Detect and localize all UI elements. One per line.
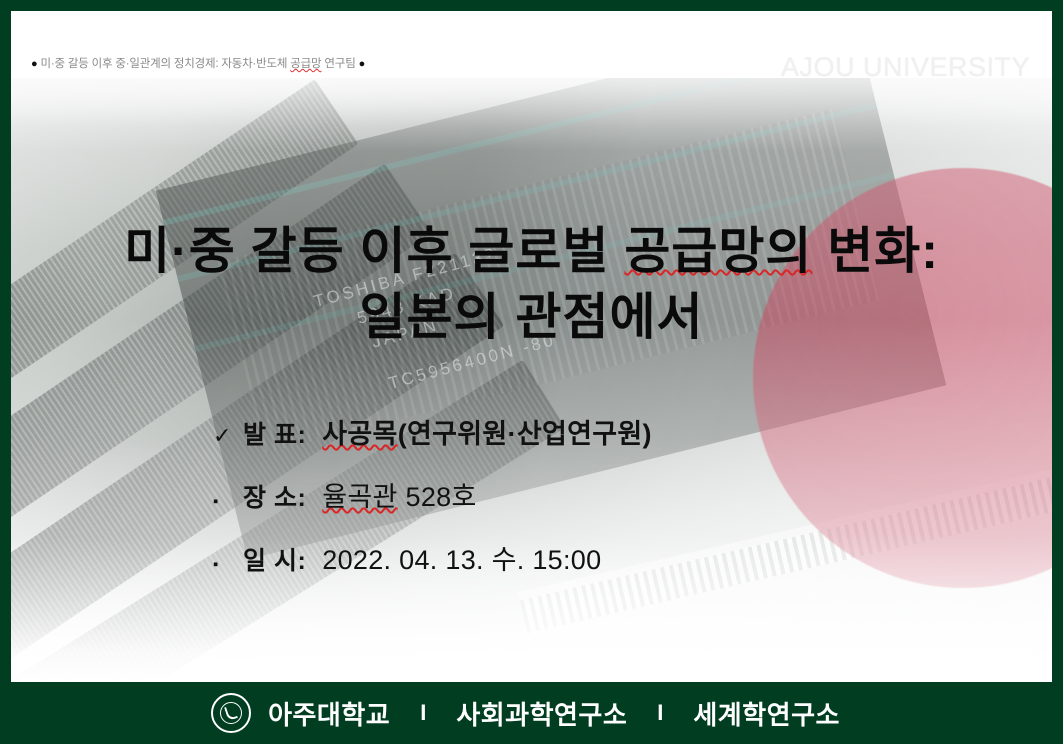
running-title-text-b: 연구팀 (321, 58, 355, 70)
footer-separator: I (407, 700, 439, 726)
slide-title-line1-a: 미·중 갈등 이후 글로벌 (124, 223, 624, 279)
slide-title-line2: 일본의 관점에서 (360, 289, 704, 345)
running-title-bullet-left: ● (31, 58, 37, 70)
slide-footer: 아주대학교 I 사회과학연구소 I 세계학연구소 (0, 682, 1063, 744)
running-title: ● 미·중 갈등 이후 중·일관계의 정치경제: 자동차·반도체 공급망 연구팀… (31, 55, 365, 71)
footer-brand-row: 아주대학교 I 사회과학연구소 I 세계학연구소 (211, 693, 840, 733)
detail-value-datetime: 2022. 04. 13. 수. 15:00 (322, 538, 601, 577)
footer-university-name: 아주대학교 (268, 695, 390, 732)
detail-value-speaker-affiliation: (연구위원·산업연구원) (398, 419, 652, 449)
detail-label-datetime: 일 시: (243, 541, 306, 577)
detail-value-location-room: 528호 (398, 482, 477, 512)
running-title-bullet-right: ● (359, 58, 365, 70)
slide-title: 미·중 갈등 이후 글로벌 공급망의 변화: 일본의 관점에서 (11, 218, 1052, 350)
event-details-list: ✓ 발 표: 사공목(연구위원·산업연구원) ▪ 장 소: 율곡관 528호 ▪… (213, 412, 652, 601)
detail-label-speaker: 발 표: (243, 415, 306, 451)
footer-institute-social-science: 사회과학연구소 (456, 695, 627, 732)
running-title-text-a: 미·중 갈등 이후 중·일관계의 정치경제: 자동차·반도체 (40, 58, 290, 70)
square-bullet-icon: ▪ (213, 494, 243, 509)
slide-header-band: ● 미·중 갈등 이후 중·일관계의 정치경제: 자동차·반도체 공급망 연구팀… (11, 11, 1052, 78)
ajou-university-logo-icon (211, 693, 251, 733)
detail-row-location: ▪ 장 소: 율곡관 528호 (213, 475, 652, 514)
slide-content-frame: ● 미·중 갈등 이후 중·일관계의 정치경제: 자동차·반도체 공급망 연구팀… (11, 11, 1052, 682)
detail-value-location-building: 율곡관 (322, 482, 397, 512)
detail-value-speaker: 사공목(연구위원·산업연구원) (322, 412, 652, 451)
square-bullet-icon: ▪ (213, 557, 243, 572)
footer-separator: I (644, 700, 676, 726)
presentation-slide: ● 미·중 갈등 이후 중·일관계의 정치경제: 자동차·반도체 공급망 연구팀… (0, 0, 1063, 744)
footer-institute-world-studies: 세계학연구소 (693, 695, 840, 732)
slide-title-line1-b: 변화: (812, 223, 939, 279)
detail-value-location: 율곡관 528호 (322, 475, 476, 514)
slide-title-misspelled-word: 공급망의 (624, 223, 812, 279)
check-icon: ✓ (213, 425, 243, 447)
hero-image-area: TOSHIBA F22113? 5948 KAD JAPAN TC5956400… (11, 78, 1052, 682)
detail-value-speaker-name: 사공목 (322, 419, 397, 449)
running-title-misspelled-word: 공급망 (290, 58, 321, 70)
detail-label-location: 장 소: (243, 478, 306, 514)
detail-row-datetime: ▪ 일 시: 2022. 04. 13. 수. 15:00 (213, 538, 652, 577)
detail-row-speaker: ✓ 발 표: 사공목(연구위원·산업연구원) (213, 412, 652, 451)
